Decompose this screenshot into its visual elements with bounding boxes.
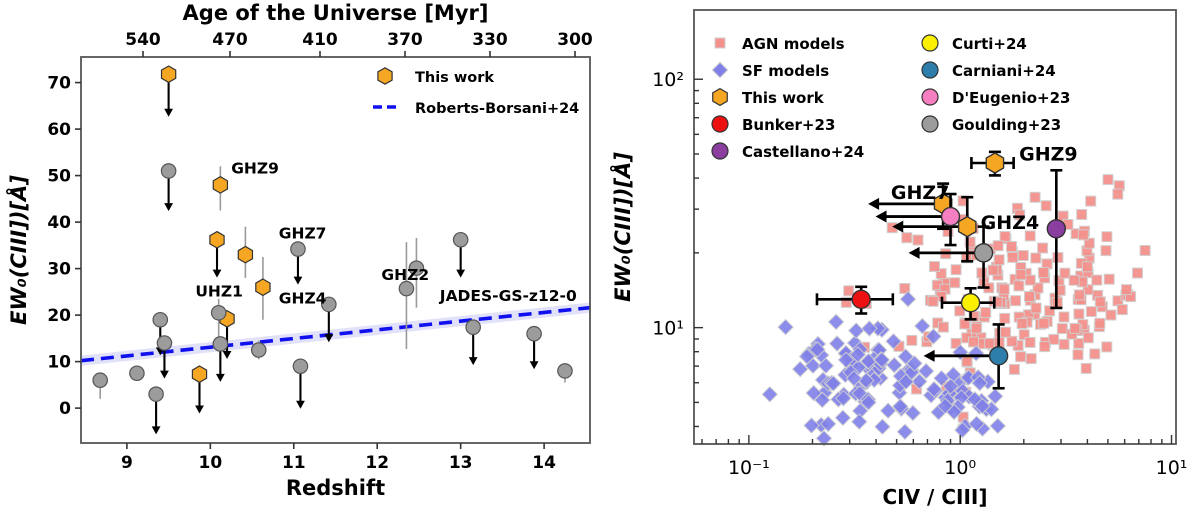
circle-marker (130, 366, 144, 380)
left-panel-svg: 01020304050607091011121314RedshiftEW₀(CI… (0, 0, 600, 512)
data-point-literature-grey- (558, 364, 572, 383)
agn-model-marker (1007, 336, 1017, 346)
hexagon-marker (986, 153, 1003, 173)
data-point-literature-grey- (399, 242, 413, 349)
data-point-literature-grey- (291, 242, 305, 285)
circle-marker (293, 359, 307, 373)
agn-model-marker (951, 265, 961, 275)
agn-model-marker (1040, 342, 1050, 352)
agn-model-marker (993, 241, 1003, 251)
legend-circle-teal-icon (922, 62, 938, 78)
sf-model-marker (862, 321, 877, 336)
agn-model-marker (1017, 319, 1027, 329)
right-civ-ciii-panel: 10⁻¹10⁰10¹CIV / CIII]10¹10²EW₀(CIII])[Å]… (600, 0, 1200, 512)
upper-limit-arrow-head (164, 109, 173, 117)
legend-label-curti-24: Curti+24 (952, 35, 1027, 53)
agn-model-marker (1053, 253, 1063, 263)
legend-circle-yellow-icon (922, 35, 938, 51)
top-tick-label: 300 (557, 30, 593, 50)
hexagon-marker (162, 66, 176, 82)
sf-model-marker (875, 419, 890, 434)
circle-marker (93, 373, 107, 387)
x-upper-limit-arrow-head (876, 211, 887, 223)
data-point-this-work (256, 257, 270, 320)
agn-model-marker (1095, 297, 1105, 307)
legend-hexagon-orange-icon (378, 68, 392, 84)
data-point-literature-grey- (293, 359, 307, 409)
legend-label-this-work: This work (742, 89, 825, 107)
y-tick-label: 10 (47, 353, 71, 373)
sf-model-marker (762, 387, 777, 402)
hexagon-marker (256, 279, 270, 295)
circle-marker (558, 364, 572, 378)
agn-model-marker (1038, 268, 1048, 278)
point-annotation: GHZ2 (381, 266, 429, 284)
agn-model-marker (1092, 275, 1102, 285)
point-annotation: UHZ1 (195, 283, 243, 301)
legend-label-agn-models: AGN models (742, 35, 845, 53)
x-tick-label: 10¹ (1156, 457, 1188, 479)
point-annotation: GHZ7 (279, 224, 327, 242)
agn-model-marker (1018, 251, 1028, 261)
circle-marker (852, 290, 870, 308)
top-tick-label: 330 (472, 30, 508, 50)
agn-model-marker (938, 322, 948, 332)
y-axis-title: EW₀(CIII])[Å] (6, 175, 31, 325)
agn-model-marker (1026, 354, 1036, 364)
upper-limit-arrow-head (152, 426, 161, 434)
upper-limit-arrow-head (164, 203, 173, 211)
y-axis-title: EW₀(CIII])[Å] (610, 152, 635, 302)
agn-model-marker (1000, 313, 1010, 323)
agn-model-marker (1103, 175, 1113, 185)
legend-label-this-work: This work (415, 70, 494, 86)
y-tick-label: 60 (47, 120, 71, 140)
x-tick-label: 11 (282, 453, 306, 473)
data-point-this-work (238, 227, 252, 278)
hexagon-marker (213, 177, 227, 193)
sf-model-marker (828, 314, 843, 329)
data-point-literature-grey- (527, 327, 541, 370)
agn-model-marker (981, 307, 991, 317)
hexagon-marker (192, 366, 206, 382)
agn-model-marker (1090, 349, 1100, 359)
data-point-literature-grey- (93, 373, 107, 399)
agn-model-marker (913, 235, 923, 245)
agn-model-marker (902, 233, 912, 243)
data-point-literature-grey- (213, 337, 227, 382)
hexagon-marker (210, 232, 224, 248)
sf-model-marker (990, 418, 1005, 433)
data-point-this-work (162, 66, 176, 117)
top-tick-label: 410 (302, 30, 338, 50)
agn-model-marker (971, 323, 981, 333)
x-tick-label: 14 (532, 453, 556, 473)
agn-model-marker (1102, 342, 1112, 352)
agn-model-marker (1081, 363, 1091, 373)
data-point-literature-grey- (453, 233, 467, 278)
agn-model-marker (1031, 253, 1041, 263)
trend-confidence-band (81, 303, 590, 366)
y-tick-label: 40 (47, 213, 71, 233)
right-panel-svg: 10⁻¹10⁰10¹CIV / CIII]10¹10²EW₀(CIII])[Å]… (600, 0, 1200, 512)
agn-model-marker (1007, 242, 1017, 252)
legend-label-carniani-24: Carniani+24 (952, 62, 1056, 80)
agn-model-marker (1070, 323, 1080, 333)
x-tick-label: 13 (449, 453, 473, 473)
x-upper-limit-arrow-head (924, 350, 935, 362)
sf-model-marker (835, 410, 850, 425)
top-tick-label: 540 (125, 30, 161, 50)
agn-model-marker (1122, 285, 1132, 295)
point-annotation: GHZ7 (891, 182, 950, 204)
legend-label-d-eugenio-23: D'Eugenio+23 (952, 89, 1070, 107)
y-tick-label: 50 (47, 167, 71, 187)
agn-model-marker (1073, 350, 1083, 360)
agn-model-marker (1074, 338, 1084, 348)
data-point-literature-grey- (149, 387, 163, 434)
agn-model-marker (1060, 268, 1070, 278)
agn-model-marker (1086, 307, 1096, 317)
agn-model-marker (1016, 352, 1026, 362)
legend-label-sf-models: SF models (742, 62, 829, 80)
y-tick-label: 10² (652, 69, 684, 91)
data-point-this-work (213, 166, 227, 210)
data-point-this-work (210, 232, 224, 278)
agn-model-marker (1011, 296, 1021, 306)
y-tick-label: 70 (47, 74, 71, 94)
upper-limit-arrow-head (195, 405, 204, 413)
agn-model-marker (999, 284, 1009, 294)
legend-circle-red-icon (712, 116, 728, 132)
agn-model-marker (1025, 337, 1035, 347)
agn-model-marker (1030, 192, 1040, 202)
top-tick-label: 470 (212, 30, 248, 50)
circle-marker (453, 233, 467, 247)
y-tick-label: 30 (47, 260, 71, 280)
measurement-this-work (971, 152, 1013, 176)
agn-model-marker (1059, 312, 1069, 322)
circle-marker (527, 327, 541, 341)
agn-model-marker (1025, 275, 1035, 285)
agn-model-marker (1106, 310, 1116, 320)
agn-model-marker (1074, 290, 1084, 300)
agn-model-marker (930, 262, 940, 272)
agn-model-marker (928, 296, 938, 306)
legend-label-roberts-borsani: Roberts-Borsani+24 (415, 101, 579, 117)
x-tick-label: 10 (199, 453, 223, 473)
agn-model-marker (907, 335, 917, 345)
upper-limit-arrow-head (456, 270, 465, 278)
agn-model-marker (1117, 305, 1127, 315)
agn-model-marker (1074, 309, 1084, 319)
legend-diamond-blue-icon (712, 62, 727, 77)
circle-marker (942, 208, 960, 226)
circle-marker (149, 387, 163, 401)
agn-model-marker (1082, 262, 1092, 272)
point-annotation: GHZ9 (1019, 144, 1078, 166)
agn-model-marker (1101, 246, 1111, 256)
circle-marker (962, 294, 980, 312)
agn-model-marker (1016, 270, 1026, 280)
upper-limit-arrow-head (213, 270, 222, 278)
left-redshift-panel: 01020304050607091011121314RedshiftEW₀(CI… (0, 0, 600, 512)
agn-model-marker (1133, 268, 1143, 278)
agn-model-marker (1140, 246, 1150, 256)
data-point-literature-grey- (161, 164, 175, 211)
circle-marker (213, 337, 227, 351)
agn-model-marker (985, 338, 995, 348)
circle-marker (291, 242, 305, 256)
circle-marker (252, 343, 266, 357)
agn-model-marker (1057, 324, 1067, 334)
agn-model-marker (1049, 334, 1059, 344)
agn-model-marker (1113, 189, 1123, 199)
circle-marker (990, 347, 1008, 365)
circle-marker (1047, 220, 1065, 238)
agn-model-marker (1095, 318, 1105, 328)
y-tick-label: 0 (59, 399, 71, 419)
circle-marker (161, 164, 175, 178)
agn-model-marker (994, 255, 1004, 265)
data-point-literature-grey- (466, 320, 480, 365)
upper-limit-arrow-head (294, 277, 303, 285)
agn-model-marker (1086, 196, 1096, 206)
x-tick-label: 10⁻¹ (728, 457, 770, 479)
hexagon-marker (238, 246, 252, 262)
agn-model-marker (1008, 252, 1018, 262)
legend-label-castellano-24: Castellano+24 (742, 143, 864, 161)
legend-circle-magenta-icon (922, 89, 938, 105)
sf-model-marker (778, 319, 793, 334)
agn-model-marker (988, 265, 998, 275)
upper-limit-arrow-head (216, 374, 225, 382)
legend-hexagon-orange-icon (713, 89, 728, 106)
y-tick-label: 10¹ (652, 318, 684, 340)
sf-model-marker (804, 418, 819, 433)
agn-model-marker (1014, 281, 1024, 291)
point-annotation: GHZ4 (279, 289, 327, 307)
agn-model-marker (1102, 232, 1112, 242)
sf-model-marker (793, 361, 808, 376)
upper-limit-arrow-head (296, 401, 305, 409)
agn-model-marker (1083, 333, 1093, 343)
left-legend: This workRoberts-Borsani+24 (373, 68, 579, 117)
circle-marker (975, 244, 993, 262)
right-legend: AGN modelsSF modelsThis workBunker+23Cas… (712, 35, 1070, 161)
legend-label-goulding-23: Goulding+23 (952, 116, 1061, 134)
upper-limit-arrow-head (160, 371, 169, 379)
sf-model-marker (988, 389, 1003, 404)
data-points-layer (93, 66, 572, 434)
agn-model-marker (977, 268, 987, 278)
agn-model-marker (962, 356, 972, 366)
figure-root: 01020304050607091011121314RedshiftEW₀(CI… (0, 0, 1200, 512)
agn-model-marker (1025, 292, 1035, 302)
x-upper-limit-arrow-head (868, 198, 879, 210)
x-tick-label: 10⁰ (944, 457, 976, 479)
point-annotation: GHZ4 (981, 212, 1040, 234)
point-annotation: JADES-GS-z12-0 (439, 287, 577, 305)
point-annotation: GHZ9 (231, 159, 279, 177)
agn-model-marker (1104, 274, 1114, 284)
agn-model-marker (1041, 201, 1051, 211)
agn-model-marker (1077, 210, 1087, 220)
x-upper-limit-arrow-head (909, 247, 920, 259)
trend-band (81, 303, 590, 366)
x-tick-label: 12 (365, 453, 389, 473)
circle-marker (157, 336, 171, 350)
upper-limit-arrow-head (469, 357, 478, 365)
legend-circle-purple-icon (712, 143, 728, 159)
agn-model-marker (1078, 230, 1088, 240)
agn-model-marker (1031, 303, 1041, 313)
agn-model-marker (844, 286, 854, 296)
upper-limit-arrow-head (223, 351, 232, 359)
upper-limit-arrow-head (530, 361, 539, 369)
measurement-bunker-23 (817, 287, 893, 314)
circle-marker (153, 313, 167, 327)
legend-circle-grey-icon (922, 116, 938, 132)
x-axis-title: CIV / CIII] (883, 485, 988, 509)
top-axis-title: Age of the Universe [Myr] (183, 1, 489, 25)
x-axis-title: Redshift (286, 476, 385, 500)
agn-model-marker (969, 337, 979, 347)
legend-label-bunker-23: Bunker+23 (742, 116, 835, 134)
agn-model-marker (1039, 318, 1049, 328)
agn-model-marker (1009, 364, 1019, 374)
agn-model-marker (950, 278, 960, 288)
agn-model-marker (1001, 327, 1011, 337)
agn-model-marker (1059, 339, 1069, 349)
circle-marker (466, 320, 480, 334)
y-tick-label: 20 (47, 306, 71, 326)
x-tick-label: 9 (121, 453, 133, 473)
sf-model-marker (849, 323, 864, 338)
top-tick-label: 370 (387, 30, 423, 50)
hexagon-marker (959, 217, 976, 237)
data-point-this-work (192, 366, 206, 413)
legend-square-pink-icon (715, 38, 725, 48)
sf-model-marker (897, 424, 912, 439)
data-point-literature-grey- (130, 366, 144, 380)
sf-model-marker (852, 414, 867, 429)
circle-marker (211, 306, 225, 320)
agn-model-marker (1069, 275, 1079, 285)
agn-model-marker (1038, 243, 1048, 253)
